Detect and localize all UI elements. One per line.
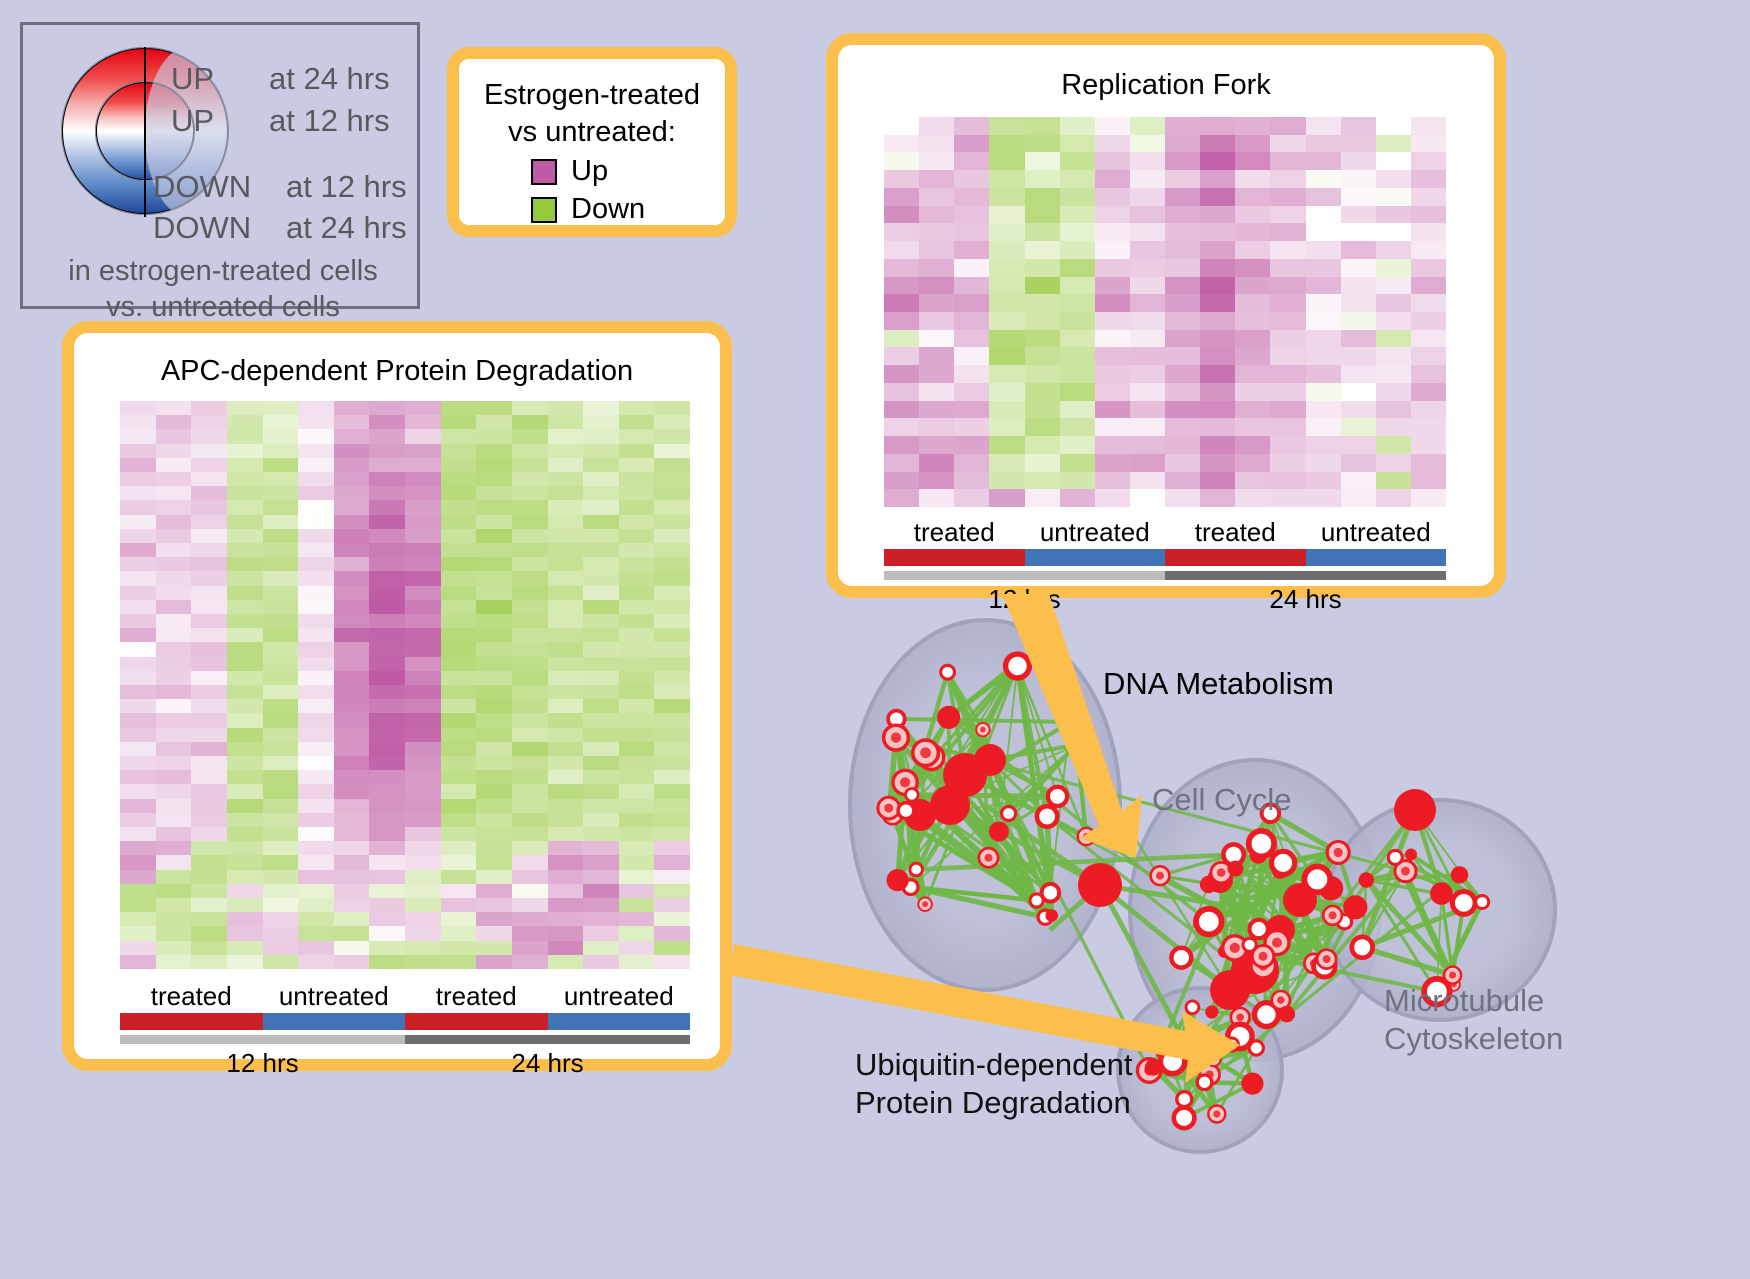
network-node	[930, 785, 970, 825]
group-label: untreated	[548, 981, 691, 1012]
network-node	[1241, 1073, 1263, 1095]
network-node-core	[980, 727, 986, 733]
label-ubiquitin-line2: Protein Degradation	[855, 1084, 1131, 1122]
network-node	[1002, 807, 1016, 821]
network-node	[1006, 654, 1030, 678]
legend-label-down: Down	[571, 193, 645, 226]
network-node	[1227, 861, 1243, 877]
label-ubiquitin-line1: Ubiquitin-dependent	[855, 1046, 1133, 1084]
replication-fork-title: Replication Fork	[838, 69, 1494, 102]
legend-title-line1: Estrogen-treated	[459, 77, 725, 114]
key-label-down-12: DOWN	[153, 169, 251, 205]
apc-time-labels: 12 hrs24 hrs	[120, 1044, 690, 1078]
network-node	[1190, 1045, 1202, 1057]
network-node-core	[891, 732, 901, 742]
network-node	[1430, 882, 1453, 905]
time-color-seg	[1165, 571, 1446, 580]
network-node	[1304, 867, 1330, 893]
network-node-core	[1259, 952, 1268, 961]
network-node	[1186, 1001, 1199, 1014]
network-node	[1070, 738, 1083, 751]
apc-treatment-colorbar	[120, 1013, 690, 1030]
network-node-core	[1083, 833, 1090, 840]
network-node	[1249, 831, 1274, 856]
key-label-down-24: DOWN	[153, 210, 251, 246]
network-node-core	[985, 854, 993, 862]
legend-item-up: Up	[531, 155, 608, 188]
network-node	[1303, 894, 1316, 907]
group-color-seg	[120, 1013, 263, 1030]
time-label: 24 hrs	[405, 1048, 690, 1079]
network-node	[1452, 892, 1475, 915]
network-node-core	[900, 777, 910, 787]
network-node	[1048, 787, 1067, 806]
group-color-seg	[1165, 549, 1306, 566]
ring-vertical-divider	[144, 47, 146, 217]
network-node	[1160, 1049, 1184, 1073]
network-node	[1272, 851, 1295, 874]
key-footer-line1: in estrogen-treated cells	[23, 253, 423, 289]
network-node	[1279, 1006, 1296, 1023]
color-key-box: UP at 24 hrs UP at 12 hrs DOWN at 12 hrs…	[20, 22, 420, 309]
network-node	[1210, 970, 1250, 1010]
group-color-seg	[405, 1013, 548, 1030]
time-color-seg	[120, 1035, 405, 1044]
network-node	[1388, 850, 1402, 864]
key-label-up-12: UP	[171, 103, 214, 139]
network-node-core	[1449, 972, 1456, 979]
group-color-seg	[884, 549, 1025, 566]
network-node	[1394, 789, 1436, 831]
group-label: treated	[405, 981, 548, 1012]
up-swatch-icon	[531, 159, 557, 185]
network-node-core	[1334, 848, 1343, 857]
network-node-core	[920, 747, 931, 758]
group-label: treated	[120, 981, 263, 1012]
network-node-core	[1277, 996, 1285, 1004]
network-node	[1225, 1038, 1238, 1051]
network-node	[937, 706, 960, 729]
time-color-seg	[884, 571, 1165, 580]
network-node	[974, 744, 1006, 776]
rf-time-colorbar	[884, 571, 1446, 580]
network-node	[1250, 920, 1268, 938]
network-node-core	[1272, 938, 1282, 948]
network-node-core	[1329, 911, 1337, 919]
network-node	[1197, 1075, 1212, 1090]
network-node	[941, 665, 955, 679]
legend-item-down: Down	[531, 193, 645, 226]
network-node-core	[922, 901, 928, 907]
group-label: untreated	[263, 981, 406, 1012]
group-color-seg	[1025, 549, 1166, 566]
apc-axis: treateduntreatedtreateduntreated 12 hrs2…	[120, 981, 690, 1078]
network-node	[898, 803, 914, 819]
network-node	[1451, 866, 1468, 883]
group-color-seg	[548, 1013, 691, 1030]
network-node-core	[1401, 867, 1410, 876]
group-label: untreated	[1025, 517, 1166, 548]
key-time-down-12: at 12 hrs	[286, 169, 407, 205]
key-time-down-24: at 24 hrs	[286, 210, 407, 246]
label-microtubule-line1: Microtubule	[1384, 982, 1544, 1020]
apc-title: APC-dependent Protein Degradation	[74, 355, 720, 388]
network-node-core	[1156, 872, 1164, 880]
group-label: untreated	[1306, 517, 1447, 548]
network-node	[1359, 872, 1374, 887]
network-node	[989, 822, 1009, 842]
network-node	[887, 869, 909, 891]
figure-canvas: UP at 24 hrs UP at 12 hrs DOWN at 12 hrs…	[0, 0, 1750, 1279]
key-footer: in estrogen-treated cells vs. untreated …	[23, 253, 423, 325]
key-footer-line2: vs. untreated cells	[23, 289, 423, 325]
network-node	[910, 863, 923, 876]
network-node	[1405, 849, 1417, 861]
label-microtubule-line2: Cytoskeleton	[1384, 1020, 1563, 1058]
updown-legend-panel: Estrogen-treated vs untreated: Up Down	[447, 47, 737, 237]
replication-fork-heatmap	[884, 117, 1446, 507]
apc-time-colorbar	[120, 1035, 690, 1044]
network-node	[1030, 894, 1043, 907]
network-node	[1352, 937, 1373, 958]
network-node	[1078, 863, 1122, 907]
network-node	[1174, 1108, 1195, 1129]
key-time-up-12: at 12 hrs	[269, 103, 390, 139]
network-node	[906, 789, 919, 802]
group-label: treated	[884, 517, 1025, 548]
network-node	[1177, 1092, 1192, 1107]
network-node-core	[1213, 1110, 1220, 1117]
network-node-core	[1211, 1056, 1217, 1062]
legend-title: Estrogen-treated vs untreated:	[459, 77, 725, 151]
key-time-up-24: at 24 hrs	[269, 61, 390, 97]
rf-treatment-colorbar	[884, 549, 1446, 566]
network-node	[1171, 948, 1191, 968]
network-node-core	[1230, 943, 1240, 953]
time-label: 12 hrs	[120, 1048, 405, 1079]
apc-heatmap	[120, 401, 690, 969]
network-node-core	[1217, 868, 1226, 877]
network-node-core	[884, 804, 893, 813]
group-label: treated	[1165, 517, 1306, 548]
replication-fork-panel: Replication Fork treateduntreatedtreated…	[826, 33, 1506, 598]
key-label-up-24: UP	[171, 61, 214, 97]
label-cell-cycle: Cell Cycle	[1152, 781, 1292, 819]
network-node	[1205, 1005, 1218, 1018]
time-color-seg	[405, 1035, 690, 1044]
rf-group-labels: treateduntreatedtreateduntreated	[884, 517, 1446, 549]
network-node-core	[1236, 1013, 1244, 1021]
network-node	[1060, 712, 1080, 732]
apc-degradation-panel: APC-dependent Protein Degradation treate…	[62, 321, 732, 1071]
network-node	[1037, 806, 1057, 826]
network-node-core	[1323, 955, 1331, 963]
group-color-seg	[263, 1013, 406, 1030]
legend-title-line2: vs untreated:	[459, 114, 725, 151]
down-swatch-icon	[531, 197, 557, 223]
group-color-seg	[1306, 549, 1447, 566]
apc-group-labels: treateduntreatedtreateduntreated	[120, 981, 690, 1013]
legend-label-up: Up	[571, 155, 608, 188]
network-node	[1476, 896, 1489, 909]
network-node	[1196, 909, 1222, 935]
network-node	[1045, 909, 1058, 922]
label-dna-metabolism: DNA Metabolism	[1103, 665, 1334, 703]
